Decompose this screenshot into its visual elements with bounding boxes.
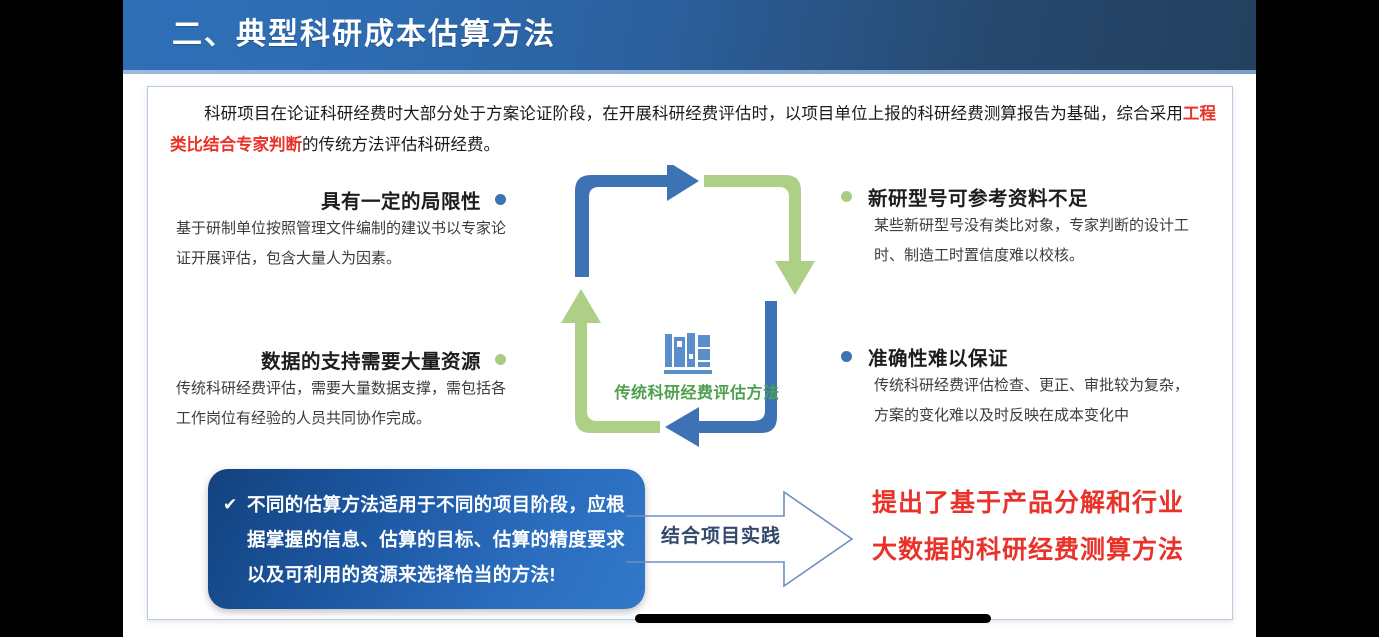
point-accuracy-body: 传统科研经费评估检查、更正、审批较为复杂，方案的变化难以及时反映在成本变化中	[874, 371, 1201, 431]
point-new-model-header: 新研型号可参考资料不足	[841, 182, 1201, 211]
cycle-diagram: 传统科研经费评估方法	[547, 165, 847, 455]
bullet-dot-icon	[495, 354, 506, 365]
intro-text-part1: 科研项目在论证科研经费时大部分处于方案论证阶段，在开展科研经费评估时，以项目单位…	[204, 105, 1183, 123]
point-accuracy-title: 准确性难以保证	[868, 342, 1008, 371]
conclusion-statement: 提出了基于产品分解和行业 大数据的科研经费测算方法	[872, 480, 1220, 574]
left-black-matte	[0, 0, 123, 637]
conclusion-line-2: 大数据的科研经费测算方法	[872, 527, 1220, 574]
point-new-model: 新研型号可参考资料不足 某些新研型号没有类比对象，专家判断的设计工时、制造工时置…	[841, 182, 1201, 271]
point-data-support: 数据的支持需要大量资源 传统科研经费评估，需要大量数据支撑，需包括各工作岗位有经…	[176, 345, 506, 434]
horizontal-scrollbar-thumb[interactable]	[635, 614, 991, 623]
cycle-arrow-right-green	[704, 175, 815, 295]
point-limitation-title: 具有一定的局限性	[321, 185, 481, 214]
transition-arrow-label: 结合项目实践	[626, 521, 816, 548]
check-icon: ✔	[223, 495, 237, 515]
screen: 二、典型科研成本估算方法 科研项目在论证科研经费时大部分处于方案论证阶段，在开展…	[0, 0, 1379, 637]
point-data-support-body: 传统科研经费评估，需要大量数据支撑，需包括各工作岗位有经验的人员共同协作完成。	[176, 374, 506, 434]
point-accuracy: 准确性难以保证 传统科研经费评估检查、更正、审批较为复杂，方案的变化难以及时反映…	[841, 342, 1201, 431]
intro-paragraph: 科研项目在论证科研经费时大部分处于方案论证阶段，在开展科研经费评估时，以项目单位…	[170, 99, 1216, 161]
callout-text: 不同的估算方法适用于不同的项目阶段，应根据掌握的信息、估算的目标、估算的精度要求…	[247, 487, 629, 592]
books-icon	[661, 330, 721, 376]
point-accuracy-header: 准确性难以保证	[841, 342, 1201, 371]
point-limitation-header: 具有一定的局限性	[176, 185, 506, 214]
content-panel: 科研项目在论证科研经费时大部分处于方案论证阶段，在开展科研经费评估时，以项目单位…	[147, 86, 1233, 620]
cycle-arrow-top-blue	[575, 165, 699, 277]
conclusion-callout-box: ✔ 不同的估算方法适用于不同的项目阶段，应根据掌握的信息、估算的目标、估算的精度…	[208, 469, 645, 609]
right-black-matte	[1256, 0, 1379, 637]
bullet-dot-icon	[495, 194, 506, 205]
point-limitation-body: 基于研制单位按照管理文件编制的建议书以专家论证开展评估，包含大量人为因素。	[176, 214, 506, 274]
point-data-support-header: 数据的支持需要大量资源	[176, 345, 506, 374]
conclusion-line-1: 提出了基于产品分解和行业	[872, 480, 1220, 527]
slide-canvas: 二、典型科研成本估算方法 科研项目在论证科研经费时大部分处于方案论证阶段，在开展…	[123, 0, 1256, 637]
point-new-model-title: 新研型号可参考资料不足	[868, 182, 1088, 211]
point-data-support-title: 数据的支持需要大量资源	[261, 345, 481, 374]
point-limitation: 具有一定的局限性 基于研制单位按照管理文件编制的建议书以专家论证开展评估，包含大…	[176, 185, 506, 274]
header-underline	[123, 70, 1256, 74]
cycle-arrow-left-green	[561, 289, 660, 433]
point-new-model-body: 某些新研型号没有类比对象，专家判断的设计工时、制造工时置信度难以校核。	[874, 211, 1201, 271]
page-title: 二、典型科研成本估算方法	[172, 14, 556, 56]
intro-text-part2: 的传统方法评估科研经费。	[302, 136, 500, 154]
cycle-diagram-label: 传统科研经费评估方法	[547, 379, 847, 403]
